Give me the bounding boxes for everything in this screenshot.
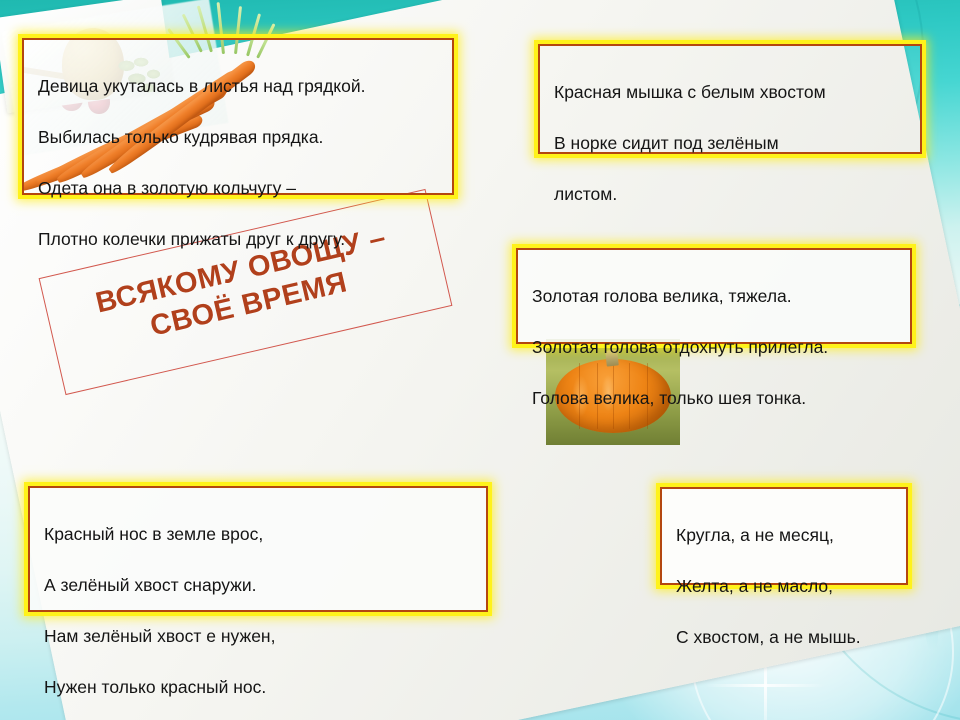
- turnip-riddle-line-2: Желта, а не масло,: [676, 574, 892, 599]
- radish-riddle-line-3: листом.: [554, 182, 906, 207]
- pumpkin-riddle-line-2: Золотая голова отдохнуть прилегла.: [532, 335, 896, 360]
- carrot-riddle-line-3: Нам зелёный хвост е нужен,: [44, 624, 472, 649]
- corn-riddle-line-3: Одета она в золотую кольчугу –: [38, 176, 438, 201]
- turnip-riddle-line-1: Кругла, а не месяц,: [676, 523, 892, 548]
- corn-riddle-line-1: Девица укуталась в листья над грядкой.: [38, 74, 438, 99]
- corn-riddle: Девица укуталась в листья над грядкой. В…: [22, 38, 454, 195]
- corn-riddle-line-2: Выбилась только кудрявая прядка.: [38, 125, 438, 150]
- presentation-slide: ВСЯКОМУ ОВОЩУ – СВОЁ ВРЕМЯ Девица укутал…: [0, 0, 960, 720]
- corn-riddle-line-4: Плотно колечки прижаты друг к другу.: [38, 227, 438, 252]
- carrot-riddle-line-1: Красный нос в земле врос,: [44, 522, 472, 547]
- radish-riddle-line-1: Красная мышка с белым хвостом: [554, 80, 906, 105]
- pumpkin-riddle: Золотая голова велика, тяжела. Золотая г…: [516, 248, 912, 344]
- turnip-riddle-line-3: С хвостом, а не мышь.: [676, 625, 892, 650]
- radish-riddle-line-2: В норке сидит под зелёным: [554, 131, 906, 156]
- carrot-riddle-line-4: Нужен только красный нос.: [44, 675, 472, 700]
- carrot-riddle: Красный нос в земле врос, А зелёный хвос…: [28, 486, 488, 612]
- pumpkin-riddle-line-3: Голова велика, только шея тонка.: [532, 386, 896, 411]
- carrot-riddle-line-2: А зелёный хвост снаружи.: [44, 573, 472, 598]
- radish-riddle: Красная мышка с белым хвостом В норке си…: [538, 44, 922, 154]
- turnip-riddle: Кругла, а не месяц, Желта, а не масло, С…: [660, 487, 908, 585]
- pumpkin-riddle-line-1: Золотая голова велика, тяжела.: [532, 284, 896, 309]
